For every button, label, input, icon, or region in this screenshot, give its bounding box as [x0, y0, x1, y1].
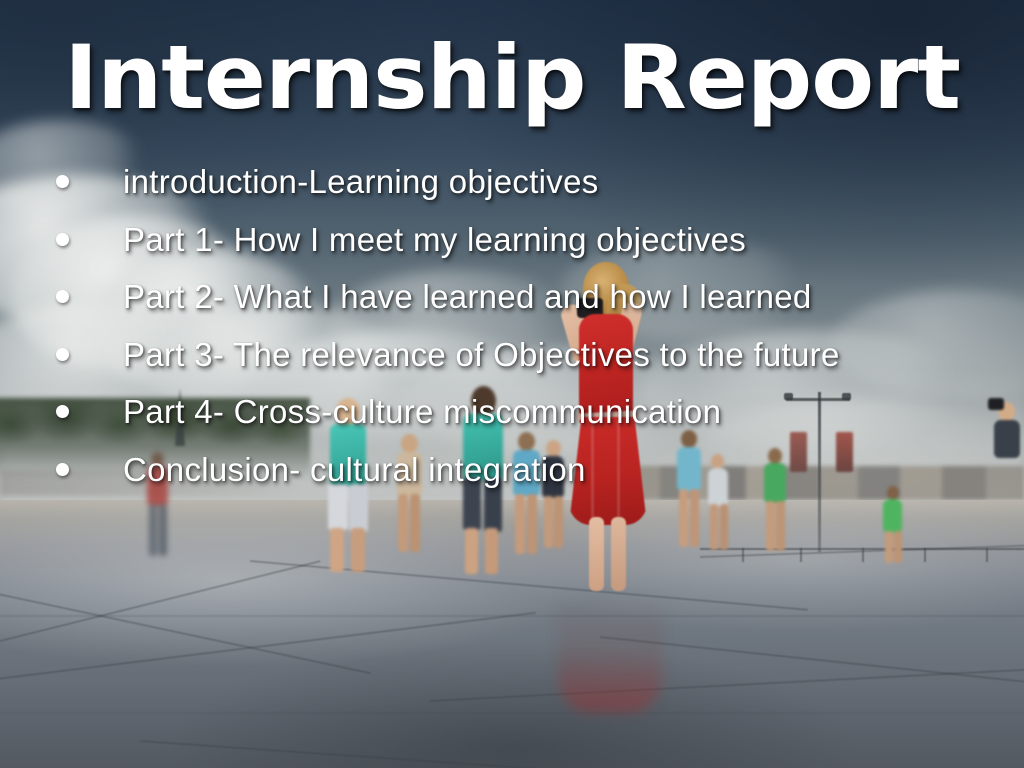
- list-item: Part 4- Cross-culture miscommunication: [56, 390, 984, 434]
- list-item-label: Part 1- How I meet my learning objective…: [123, 218, 913, 262]
- list-item: introduction-Learning objectives: [56, 160, 984, 204]
- bullet-icon: [56, 463, 69, 476]
- list-item: Conclusion- cultural integration: [56, 448, 984, 492]
- bullet-icon: [56, 348, 69, 361]
- presentation-slide: Internship Report introduction-Learning …: [0, 0, 1024, 768]
- bullet-icon: [56, 175, 69, 188]
- list-item-label: Part 2- What I have learned and how I le…: [123, 275, 913, 319]
- list-item: Part 2- What I have learned and how I le…: [56, 275, 984, 319]
- page-title: Internship Report: [0, 34, 1024, 122]
- list-item-label: Conclusion- cultural integration: [123, 448, 913, 492]
- list-item-label: introduction-Learning objectives: [123, 160, 913, 204]
- bullet-icon: [56, 233, 69, 246]
- agenda-list: introduction-Learning objectives Part 1-…: [56, 160, 984, 505]
- slide-content: Internship Report introduction-Learning …: [0, 0, 1024, 768]
- bullet-icon: [56, 405, 69, 418]
- list-item-label: Part 4- Cross-culture miscommunication: [123, 390, 913, 434]
- list-item: Part 1- How I meet my learning objective…: [56, 218, 984, 262]
- bullet-icon: [56, 290, 69, 303]
- list-item-label: Part 3- The relevance of Objectives to t…: [123, 333, 913, 377]
- list-item: Part 3- The relevance of Objectives to t…: [56, 333, 984, 377]
